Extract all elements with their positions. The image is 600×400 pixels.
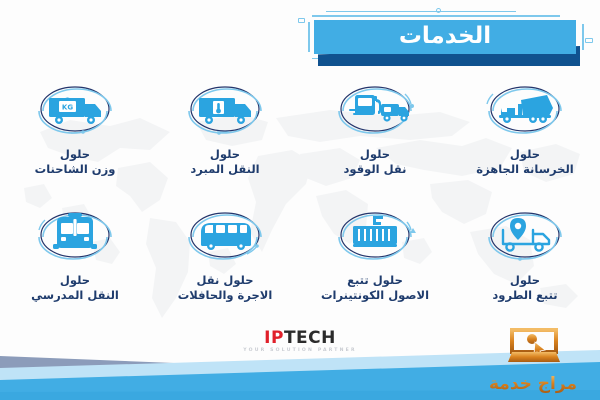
service-label: حلول تتبع الاصول الكونتينرات [321, 273, 429, 302]
service-label: حلول نقل الوقود [344, 147, 407, 176]
services-row-1: حلول الخرسانة الجاهزة [0, 78, 600, 176]
infographic-page: الخدمات [0, 0, 600, 400]
service-item-taxi-bus[interactable]: حلول نقل الاجرة والحافلات [150, 204, 300, 302]
concrete-mixer-truck-icon [477, 78, 573, 140]
service-label: حلول وزن الشاحنات [35, 147, 116, 176]
service-item-weighing[interactable]: KG حلول وزن الشاحنات [0, 78, 150, 176]
logo-text-secondary: TECH [284, 328, 336, 348]
services-grid: حلول الخرسانة الجاهزة [0, 78, 600, 303]
service-item-concrete[interactable]: حلول الخرسانة الجاهزة [450, 78, 600, 176]
banner-tick-left-icon [298, 18, 305, 23]
coach-bus-icon [177, 204, 273, 266]
banner-tick-right-icon [585, 38, 593, 43]
service-item-fuel[interactable]: حلول نقل الوقود [300, 78, 450, 176]
service-item-refrigerated[interactable]: حلول النقل المبرد [150, 78, 300, 176]
service-item-container-tracking[interactable]: حلول تتبع الاصول الكونتينرات [300, 204, 450, 302]
watermark-badge: مراج خدمة [474, 328, 592, 398]
refrigerated-truck-icon [177, 78, 273, 140]
service-label: حلول النقل المبرد [190, 147, 259, 176]
services-row-2: حلول تتبع الطرود [0, 204, 600, 302]
service-label: حلول تتبع الطرود [492, 273, 557, 302]
banner-accent-line-right [582, 24, 584, 50]
service-label: حلول النقل المدرسي [31, 273, 119, 302]
logo-text-primary: IP [264, 328, 284, 348]
service-item-parcel-tracking[interactable]: حلول تتبع الطرود [450, 204, 600, 302]
banner-dot-icon [436, 8, 441, 13]
storefront-cursor-icon [504, 328, 564, 366]
shipping-container-icon [327, 204, 423, 266]
svg-text:KG: KG [62, 104, 73, 112]
truck-weighing-icon: KG [27, 78, 123, 140]
watermark-text: مراج خدمة [474, 374, 592, 394]
footer: IPTECH YOUR SOLUTION PARTNER [0, 328, 600, 400]
banner-accent-line-top2 [326, 11, 516, 12]
header-banner: الخدمات [296, 6, 592, 68]
service-item-school-bus[interactable]: حلول النقل المدرسي [0, 204, 150, 302]
service-label: حلول الخرسانة الجاهزة [476, 147, 573, 176]
fuel-tanker-truck-icon [327, 78, 423, 140]
school-bus-icon [27, 204, 123, 266]
parcel-tracking-truck-icon [477, 204, 573, 266]
service-label: حلول نقل الاجرة والحافلات [178, 273, 273, 302]
banner-ribbon: الخدمات [314, 20, 576, 54]
banner-accent-line-left [308, 22, 310, 52]
page-title: الخدمات [399, 25, 491, 48]
banner-accent-line-top [312, 15, 560, 17]
